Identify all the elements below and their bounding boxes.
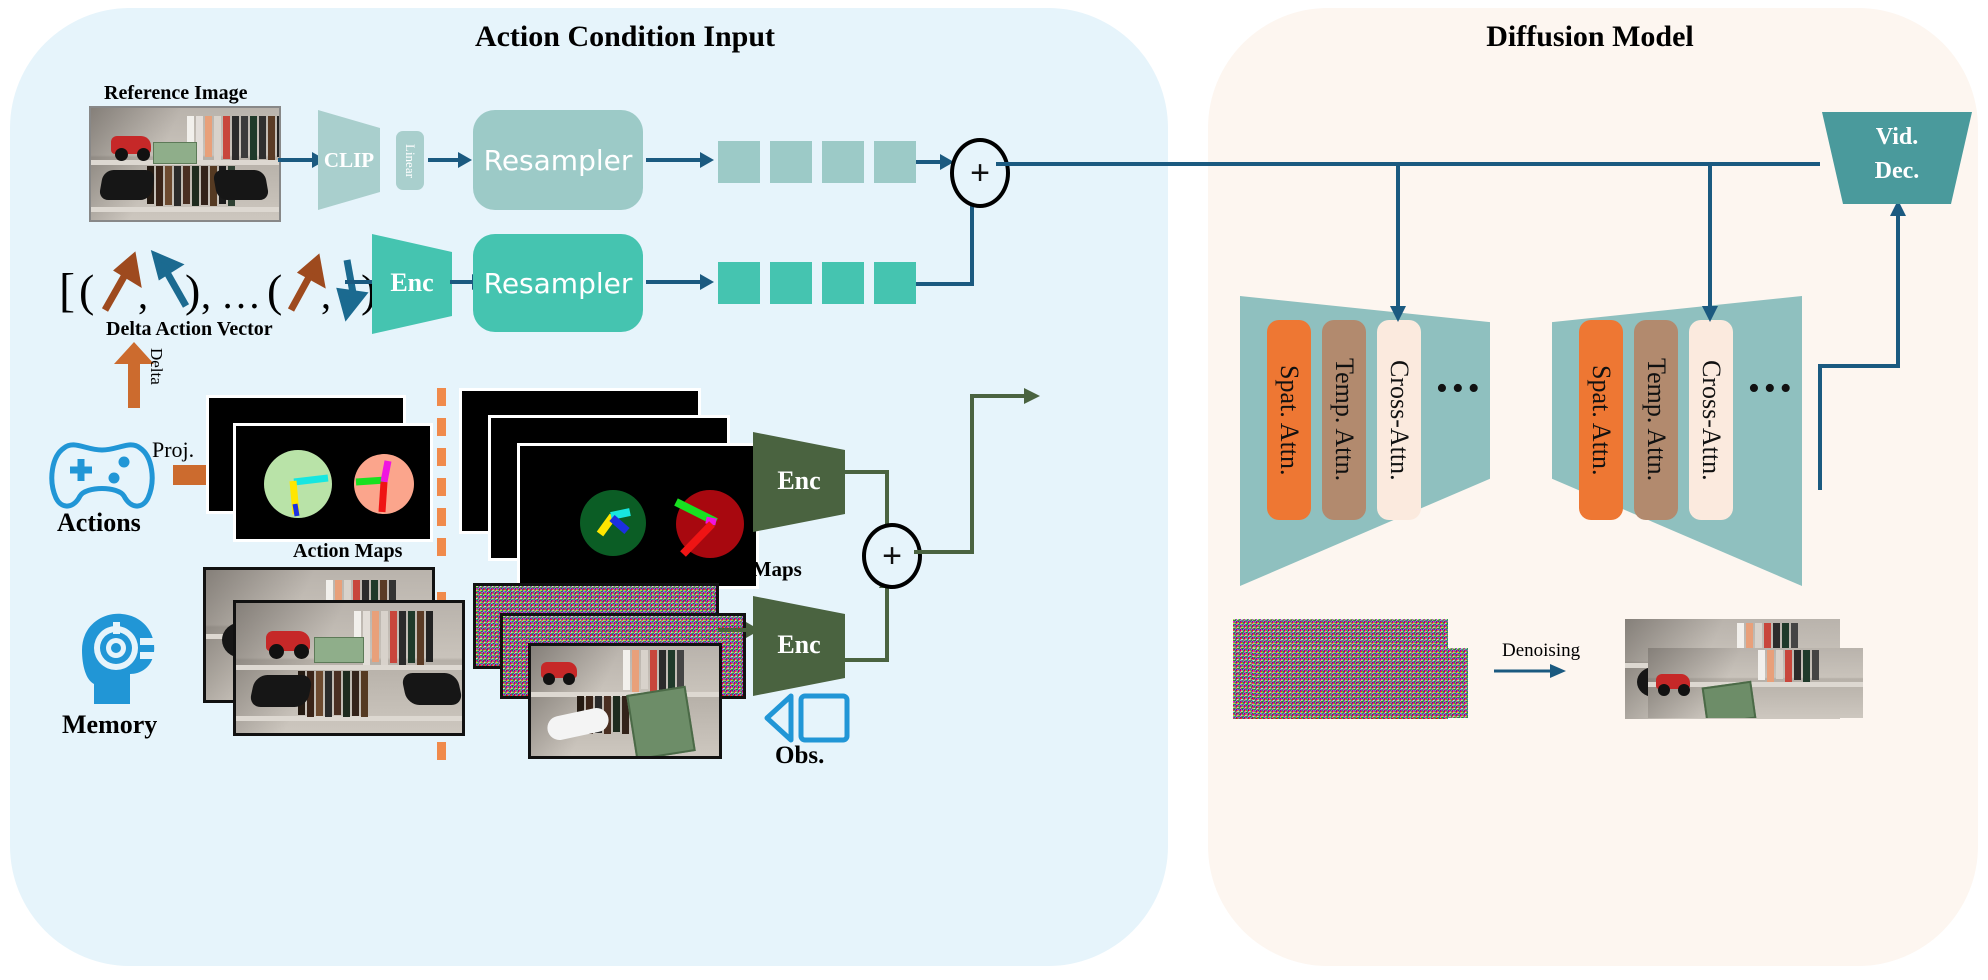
resampler-action-label: Resampler — [484, 267, 633, 300]
action-token-1 — [718, 262, 760, 304]
delta-arrow-label: Delta — [146, 348, 166, 385]
denoising-label: Denoising — [1502, 640, 1580, 662]
image-token-1 — [718, 141, 760, 183]
resampler-image-label: Resampler — [484, 144, 633, 177]
unet1-spatial-attention-label: Spat. Attn. — [1274, 365, 1304, 476]
delta-action-vector-formula: [ ( , ) , … ( , ) ] — [55, 248, 385, 328]
reference-image — [89, 106, 281, 222]
unet1-temporal-attention: Temp. Attn. — [1322, 320, 1366, 520]
image-token-4 — [874, 141, 916, 183]
panel-title-action-condition-input: Action Condition Input — [330, 20, 920, 54]
arrow-linear-to-resampler — [428, 148, 474, 172]
action-token-3 — [822, 262, 864, 304]
unet2-temporal-attention-label: Temp. Attn. — [1641, 358, 1671, 481]
arrow-denoising — [1494, 660, 1568, 682]
action-token-4 — [874, 262, 916, 304]
unet2-cross-attention-label: Cross-Attn. — [1696, 360, 1726, 481]
unet2-cross-attention: Cross-Attn. — [1689, 320, 1733, 520]
panel-title-diffusion-model: Diffusion Model — [1300, 20, 1880, 54]
unet1-cross-attention: Cross-Attn. — [1377, 320, 1421, 520]
clip-label: CLIP — [318, 148, 380, 173]
svg-text:(: ( — [79, 265, 94, 316]
image-token-2 — [770, 141, 812, 183]
enc-raymaps-label: Enc — [753, 466, 845, 496]
conditioning-bus-lines — [996, 150, 1876, 340]
arrow-resampler-to-image-tokens — [646, 148, 716, 172]
sum-node-latents-symbol: + — [882, 539, 902, 573]
obs-frame-front — [528, 643, 722, 759]
reference-image-label: Reference Image — [104, 82, 247, 105]
enc-action-label: Enc — [372, 268, 452, 298]
obs-label: Obs. — [775, 742, 824, 770]
denoising-input-noisy-front — [1253, 648, 1468, 718]
unet1-temporal-attention-label: Temp. Attn. — [1329, 358, 1359, 481]
sum-node-conditions-symbol: + — [970, 156, 990, 190]
enc-obs-label: Enc — [753, 630, 845, 660]
svg-text:): ) — [185, 265, 200, 316]
unet2-ellipsis: ••• — [1748, 370, 1796, 408]
actions-label: Actions — [57, 508, 141, 538]
denoising-output-clean-front — [1648, 648, 1863, 718]
unet1-ellipsis: ••• — [1436, 370, 1484, 408]
resampler-action-block: Resampler — [473, 234, 643, 332]
svg-text:,: , — [138, 272, 148, 317]
svg-text:[: [ — [59, 264, 75, 317]
memory-image-front — [233, 600, 465, 736]
action-maps-label: Action Maps — [293, 540, 402, 563]
action-token-2 — [770, 262, 812, 304]
unet2-temporal-attention: Temp. Attn. — [1634, 320, 1678, 520]
linear-label: Linear — [396, 131, 424, 190]
delta-action-vector-label: Delta Action Vector — [106, 318, 273, 341]
svg-text:, …: , … — [201, 272, 261, 317]
divider-dashed-top — [437, 388, 446, 568]
action-map-frame-front — [233, 423, 433, 542]
gamepad-icon — [46, 440, 158, 510]
unet2-spatial-attention-label: Spat. Attn. — [1586, 365, 1616, 476]
unet2-spatial-attention: Spat. Attn. — [1579, 320, 1623, 520]
unet1-cross-attention-label: Cross-Attn. — [1384, 360, 1414, 481]
video-decoder-label-line2: Dec. — [1822, 158, 1972, 185]
unet1-spatial-attention: Spat. Attn. — [1267, 320, 1311, 520]
brain-memory-icon — [70, 608, 162, 704]
resampler-image-block: Resampler — [473, 110, 643, 210]
video-decoder-label-line1: Vid. — [1822, 124, 1972, 151]
arrow-resampler-to-action-tokens — [646, 270, 716, 294]
svg-text:,: , — [321, 272, 331, 317]
memory-label: Memory — [62, 710, 157, 740]
camera-icon — [763, 690, 851, 746]
arrow-sum-to-unet — [912, 378, 1042, 558]
ray-maps-label: && Ray Maps — [670, 557, 802, 582]
svg-text:(: ( — [267, 265, 282, 316]
image-token-3 — [822, 141, 864, 183]
